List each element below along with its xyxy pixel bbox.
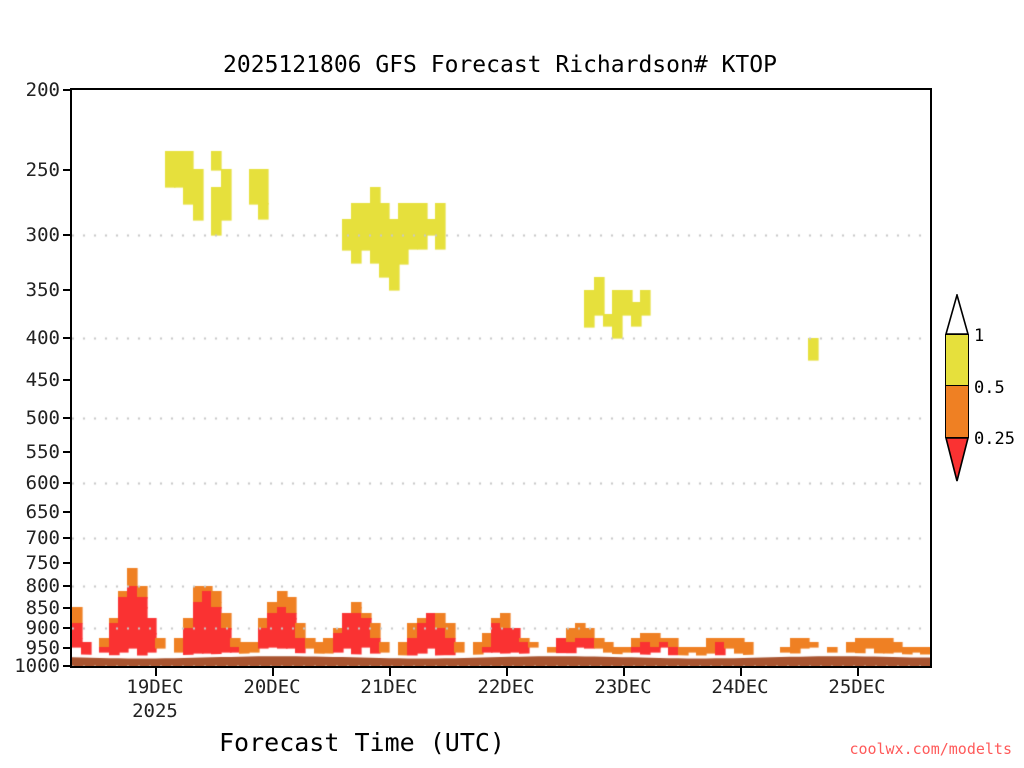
- y-tick-mark-400: [63, 337, 70, 339]
- x-axis-year-label: 2025: [95, 700, 215, 722]
- y-tick-label-500: 500: [0, 407, 60, 429]
- x-tick-label-25DEC: 25DEC: [797, 676, 917, 698]
- y-tick-label-300: 300: [0, 224, 60, 246]
- x-tick-label-19DEC: 19DEC: [95, 676, 215, 698]
- plot-area: [70, 88, 932, 668]
- x-tick-mark-23DEC: [623, 668, 625, 676]
- colorbar-segment-yellow: [946, 335, 968, 386]
- y-tick-label-450: 450: [0, 369, 60, 391]
- y-tick-mark-250: [63, 169, 70, 171]
- y-tick-label-350: 350: [0, 279, 60, 301]
- y-tick-label-850: 850: [0, 597, 60, 619]
- colorbar-tick-1: 1: [974, 326, 984, 346]
- watermark: coolwx.com/modelts: [849, 740, 1012, 758]
- x-tick-mark-20DEC: [272, 668, 274, 676]
- colorbar-tick-0_5: 0.5: [974, 378, 1005, 398]
- y-tick-label-600: 600: [0, 472, 60, 494]
- colorbar-segment-orange: [946, 386, 968, 437]
- colorbar-above-arrow: [945, 294, 969, 335]
- y-tick-mark-500: [63, 417, 70, 419]
- y-tick-mark-800: [63, 585, 70, 587]
- y-tick-mark-900: [63, 627, 70, 629]
- x-tick-label-20DEC: 20DEC: [212, 676, 332, 698]
- y-tick-mark-950: [63, 647, 70, 649]
- heatmap-canvas: [72, 90, 930, 666]
- y-tick-label-700: 700: [0, 527, 60, 549]
- y-tick-mark-1000: [63, 665, 70, 667]
- y-tick-mark-650: [63, 511, 70, 513]
- y-tick-mark-700: [63, 537, 70, 539]
- y-tick-mark-200: [63, 89, 70, 91]
- chart-page: 2025121806 GFS Forecast Richardson# KTOP…: [0, 0, 1024, 768]
- y-tick-mark-850: [63, 607, 70, 609]
- y-tick-mark-600: [63, 482, 70, 484]
- y-tick-mark-450: [63, 379, 70, 381]
- colorbar-tick-0_25: 0.25: [974, 429, 1015, 449]
- x-tick-label-21DEC: 21DEC: [329, 676, 449, 698]
- y-tick-label-250: 250: [0, 159, 60, 181]
- colorbar: 1 0.5 0.25: [940, 292, 1020, 482]
- x-tick-label-22DEC: 22DEC: [446, 676, 566, 698]
- y-tick-mark-300: [63, 234, 70, 236]
- x-tick-label-24DEC: 24DEC: [680, 676, 800, 698]
- page-title: 2025121806 GFS Forecast Richardson# KTOP: [0, 52, 1000, 78]
- y-tick-label-200: 200: [0, 79, 60, 101]
- y-tick-mark-550: [63, 451, 70, 453]
- x-tick-mark-22DEC: [506, 668, 508, 676]
- x-tick-mark-25DEC: [857, 668, 859, 676]
- x-tick-mark-21DEC: [389, 668, 391, 676]
- x-tick-mark-24DEC: [740, 668, 742, 676]
- y-tick-label-650: 650: [0, 501, 60, 523]
- x-axis-title-text: Forecast Time (UTC): [219, 728, 505, 757]
- y-tick-label-1000: 1000: [0, 655, 60, 677]
- colorbar-body: [945, 334, 969, 438]
- y-tick-label-750: 750: [0, 552, 60, 574]
- y-tick-label-550: 550: [0, 441, 60, 463]
- x-tick-mark-19DEC: [155, 668, 157, 676]
- y-tick-label-400: 400: [0, 327, 60, 349]
- colorbar-below-arrow: [945, 437, 969, 482]
- y-tick-mark-350: [63, 289, 70, 291]
- y-tick-mark-750: [63, 562, 70, 564]
- y-tick-label-800: 800: [0, 575, 60, 597]
- x-tick-label-23DEC: 23DEC: [563, 676, 683, 698]
